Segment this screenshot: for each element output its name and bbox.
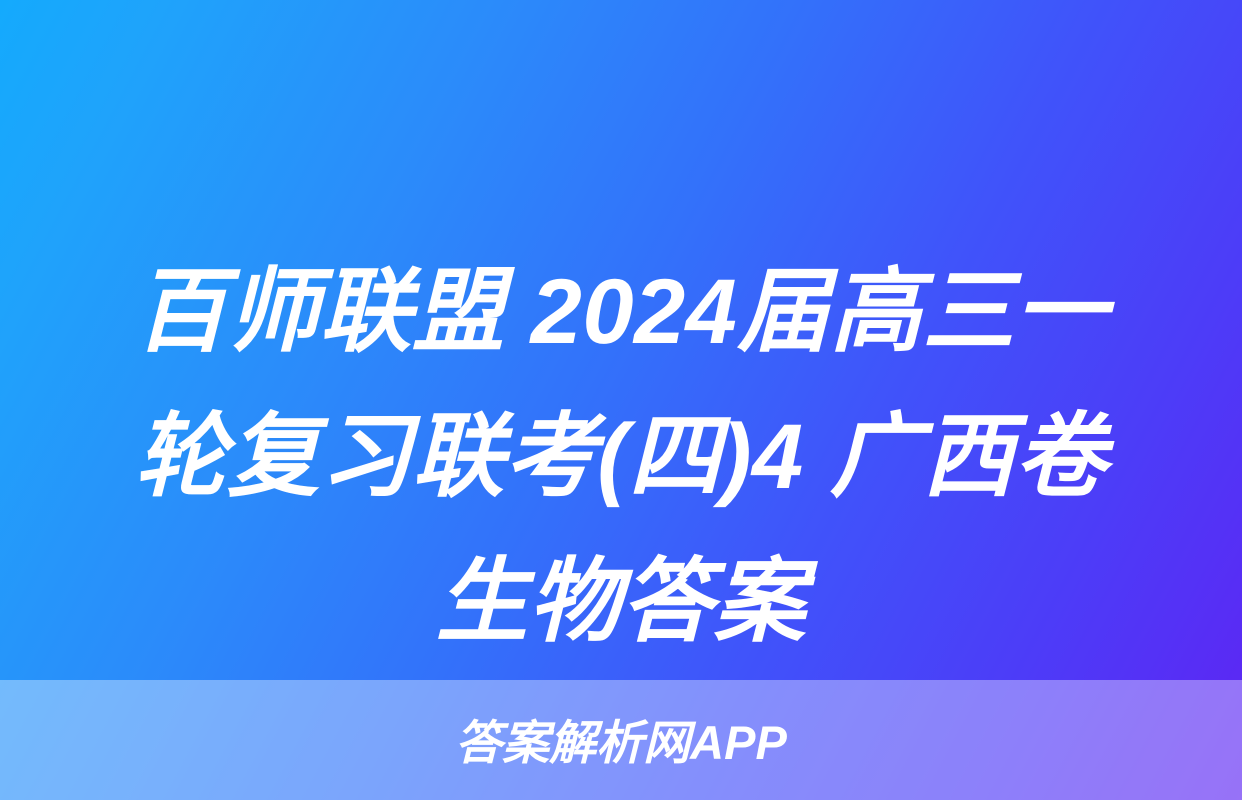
app-watermark-label: 答案解析网APP	[455, 719, 787, 766]
page-title: 百师联盟 2024届高三一 轮复习联考(四)4 广西卷 生物答案	[0, 240, 1242, 675]
page-title-line-3: 生物答案	[52, 530, 1190, 675]
page-title-line-1: 百师联盟 2024届高三一	[52, 240, 1190, 385]
footer-watermark-band: 答案解析网APP	[0, 680, 1242, 800]
poster-canvas: 百师联盟 2024届高三一 轮复习联考(四)4 广西卷 生物答案 答案解析网AP…	[0, 0, 1242, 800]
page-title-line-2: 轮复习联考(四)4 广西卷	[52, 385, 1190, 530]
